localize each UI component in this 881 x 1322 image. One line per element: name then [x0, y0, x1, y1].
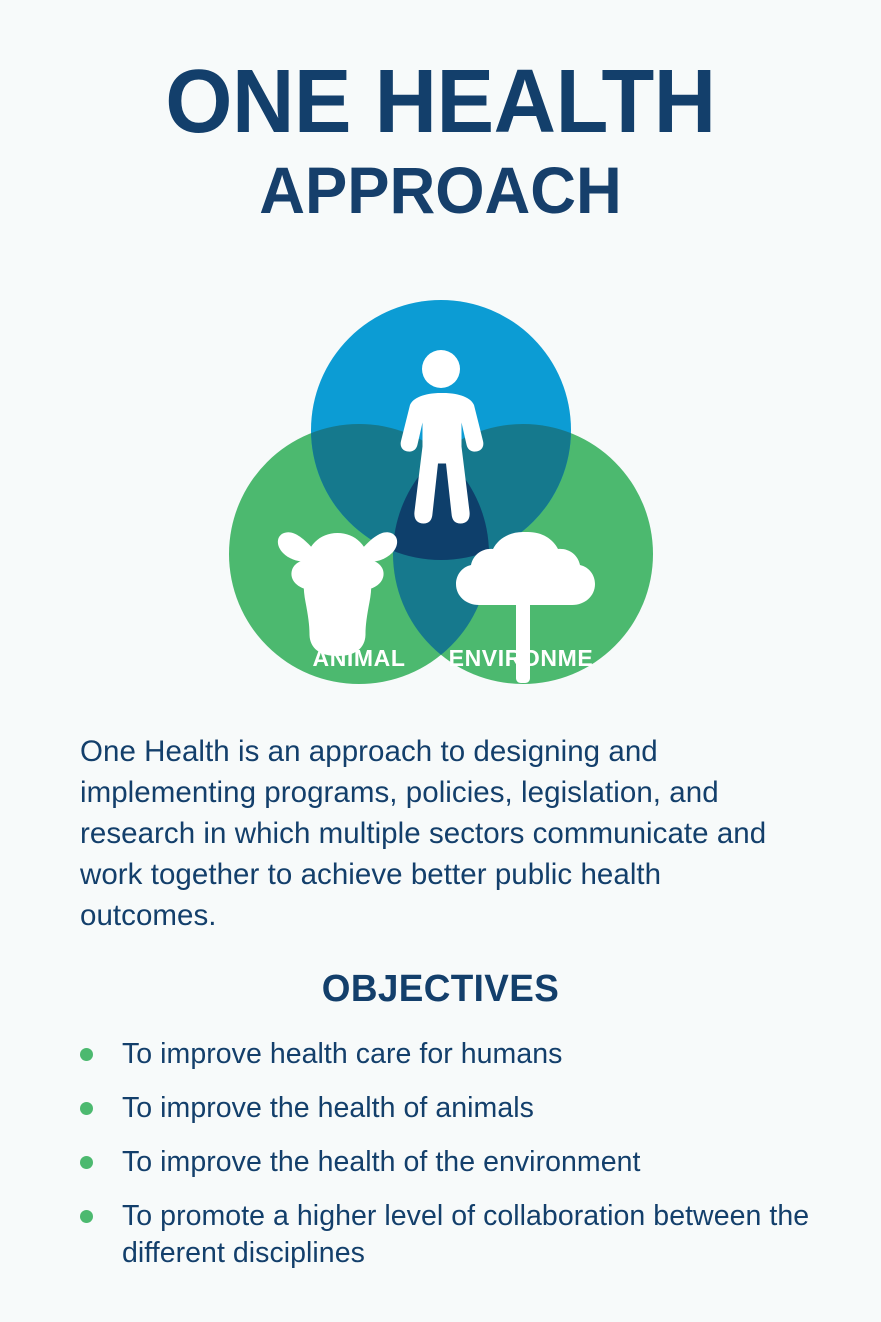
bullet-dot-icon	[80, 1102, 93, 1115]
objective-text: To improve the health of the environment	[122, 1146, 640, 1178]
list-item: To promote a higher level of collaborati…	[72, 1198, 832, 1272]
list-item: To improve the health of the environment	[72, 1144, 832, 1181]
one-health-infographic: ONE HEALTH APPROACH	[0, 0, 881, 1322]
bullet-dot-icon	[80, 1048, 93, 1061]
title-subtitle: APPROACH	[18, 156, 864, 225]
objective-text: To improve health care for humans	[122, 1038, 562, 1070]
venn-label-animal: ANIMAL	[312, 645, 405, 671]
venn-diagram-svg: ANIMAL ENVIRONME	[211, 292, 671, 694]
bullet-dot-icon	[80, 1210, 93, 1223]
venn-diagram: ANIMAL ENVIRONME	[0, 292, 881, 694]
list-item: To improve the health of animals	[72, 1090, 832, 1127]
title-main: ONE HEALTH	[18, 58, 864, 146]
list-item: To improve health care for humans	[72, 1036, 832, 1073]
objective-text: To improve the health of animals	[122, 1092, 534, 1124]
page-title: ONE HEALTH APPROACH	[0, 58, 881, 225]
objectives-heading: OBJECTIVES	[13, 968, 868, 1011]
venn-label-environment: ENVIRONME	[448, 645, 593, 671]
body-paragraph: One Health is an approach to designing a…	[80, 731, 792, 936]
objective-text: To promote a higher level of collaborati…	[122, 1200, 809, 1269]
objectives-list: To improve health care for humans To imp…	[72, 1036, 832, 1272]
bullet-dot-icon	[80, 1156, 93, 1169]
